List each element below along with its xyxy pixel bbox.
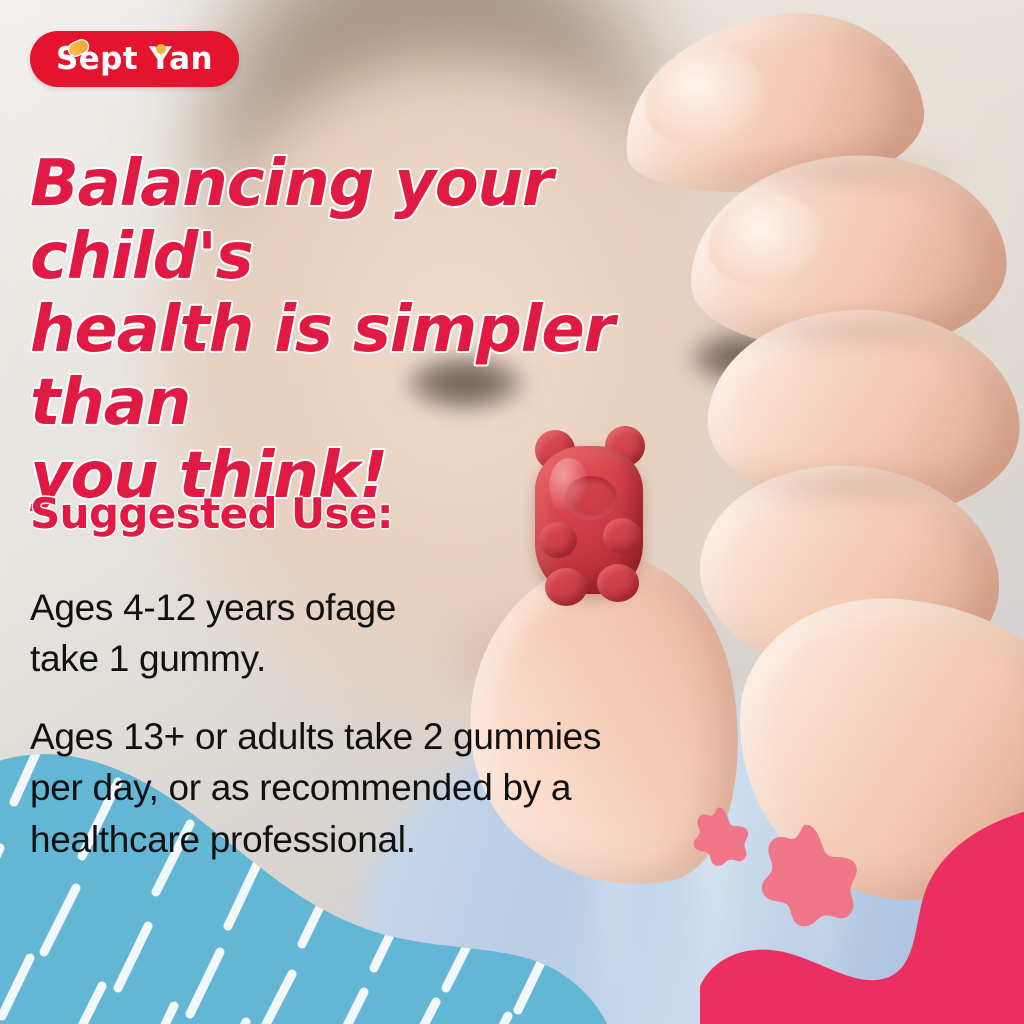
brand-logo[interactable]: Sept Yan	[30, 31, 239, 87]
headline-line-1: Balancing your child's	[30, 148, 770, 294]
dosage-children-line-2: take 1 gummy.	[30, 633, 720, 684]
promo-poster: Sept Yan Balancing your child's health i…	[0, 0, 1024, 1024]
dot-icon	[156, 44, 166, 54]
dosage-paragraph-children: Ages 4-12 years ofage take 1 gummy.	[30, 582, 720, 685]
dosage-paragraph-adults: Ages 13+ or adults take 2 gummies per da…	[30, 711, 720, 865]
gummy-arm-left	[539, 522, 577, 558]
star-large-icon	[752, 822, 860, 930]
dosage-adults-line-1: Ages 13+ or adults take 2 gummies	[30, 711, 720, 762]
dosage-children-line-1: Ages 4-12 years ofage	[30, 582, 720, 633]
suggested-use-body: Ages 4-12 years ofage take 1 gummy. Ages…	[30, 582, 720, 865]
page-title: Balancing your child's health is simpler…	[30, 148, 770, 513]
dosage-adults-line-2: per day, or as recommended by a	[30, 762, 720, 813]
gummy-arm-right	[603, 518, 641, 554]
suggested-use-heading: Suggested Use:	[30, 489, 393, 538]
dosage-adults-line-3: healthcare professional.	[30, 814, 720, 865]
headline-line-2: health is simpler than	[30, 294, 770, 440]
